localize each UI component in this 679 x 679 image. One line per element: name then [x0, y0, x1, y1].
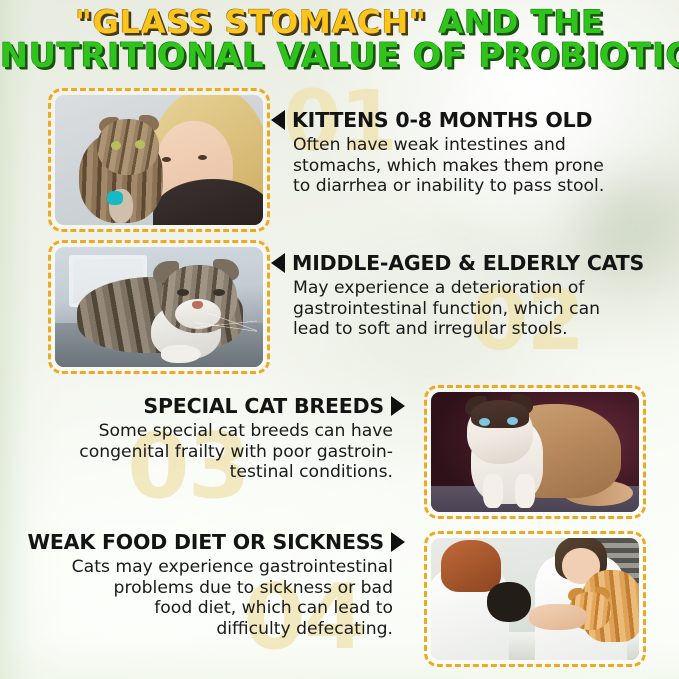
right-triangle-icon — [391, 532, 405, 552]
body-line: problems due to sickness or bad — [42, 578, 393, 599]
dark-pet-head — [487, 582, 531, 622]
body-line: difficulty defecating. — [42, 619, 393, 640]
elderly-cat-eye-right — [213, 289, 225, 296]
breed-cat-leg-back — [515, 474, 535, 508]
elderly-cat-front-paw — [161, 345, 201, 363]
kitten-head — [97, 119, 159, 175]
examining-hands — [529, 604, 587, 630]
breed-cat-leg-front — [483, 474, 503, 508]
section-02-body: May experience a deterioration of gastro… — [271, 278, 671, 340]
body-line: congenital frailty with poor gastroin- — [50, 442, 393, 463]
section-03-heading: SPECIAL CAT BREEDS — [143, 394, 384, 418]
woman-holding-kitten-photo — [48, 88, 270, 232]
special-breed-cat-photo — [424, 385, 646, 519]
elderly-cat-eye-left — [177, 289, 189, 296]
elderly-tabby-cat-photo — [48, 240, 270, 374]
section-01-body: Often have weak intestines and stomachs,… — [271, 135, 671, 197]
right-triangle-icon — [391, 396, 405, 416]
assistant-hair-left — [441, 540, 501, 592]
poster-title: "GLASS STOMACH" AND THE NUTRITIONAL VALU… — [0, 6, 679, 74]
woman-blue-nail — [107, 191, 123, 205]
section-04: WEAK FOOD DIET OR SICKNESS Cats may expe… — [42, 530, 405, 640]
section-03-body: Some special cat breeds can have congeni… — [50, 421, 405, 483]
infographic-poster: "GLASS STOMACH" AND THE NUTRITIONAL VALU… — [0, 0, 679, 679]
section-04-body: Cats may experience gastrointestinal pro… — [42, 557, 405, 640]
kitten-eye-right — [135, 140, 145, 149]
breed-cat-eye-right — [507, 417, 518, 425]
title-line2: NUTRITIONAL VALUE OF PROBIOTICS — [0, 36, 679, 75]
vet-examining-ginger-cat-photo — [424, 531, 646, 667]
body-line: gastrointestinal function, which can — [293, 299, 671, 320]
section-02-heading: MIDDLE-AGED & ELDERLY CATS — [292, 251, 644, 275]
body-line: food diet, which can lead to — [42, 598, 393, 619]
left-triangle-icon — [271, 110, 285, 130]
body-line: May experience a deterioration of — [293, 278, 671, 299]
breed-cat-eye-left — [479, 418, 490, 426]
section-03: SPECIAL CAT BREEDS Some special cat bree… — [50, 394, 405, 483]
woman-eye-left — [162, 157, 171, 162]
section-01: KITTENS 0-8 MONTHS OLD Often have weak i… — [271, 108, 671, 197]
elderly-cat-nose — [192, 301, 203, 309]
section-01-heading: KITTENS 0-8 MONTHS OLD — [292, 108, 592, 132]
body-line: Some special cat breeds can have — [50, 421, 393, 442]
woman-eye-right — [198, 155, 207, 160]
body-line: lead to soft and irregular stools. — [293, 319, 671, 340]
body-line: to diarrhea or inability to pass stool. — [293, 176, 671, 197]
elderly-cat-whiskers — [195, 313, 257, 339]
body-line: Often have weak intestines and — [293, 135, 671, 156]
section-02: MIDDLE-AGED & ELDERLY CATS May experienc… — [271, 251, 671, 340]
section-04-heading: WEAK FOOD DIET OR SICKNESS — [27, 530, 384, 554]
body-line: testinal conditions. — [50, 462, 393, 483]
kitten-eye-left — [111, 141, 121, 150]
body-line: Cats may experience gastrointestinal — [42, 557, 393, 578]
left-triangle-icon — [271, 253, 285, 273]
body-line: stomachs, which makes them prone — [293, 156, 671, 177]
